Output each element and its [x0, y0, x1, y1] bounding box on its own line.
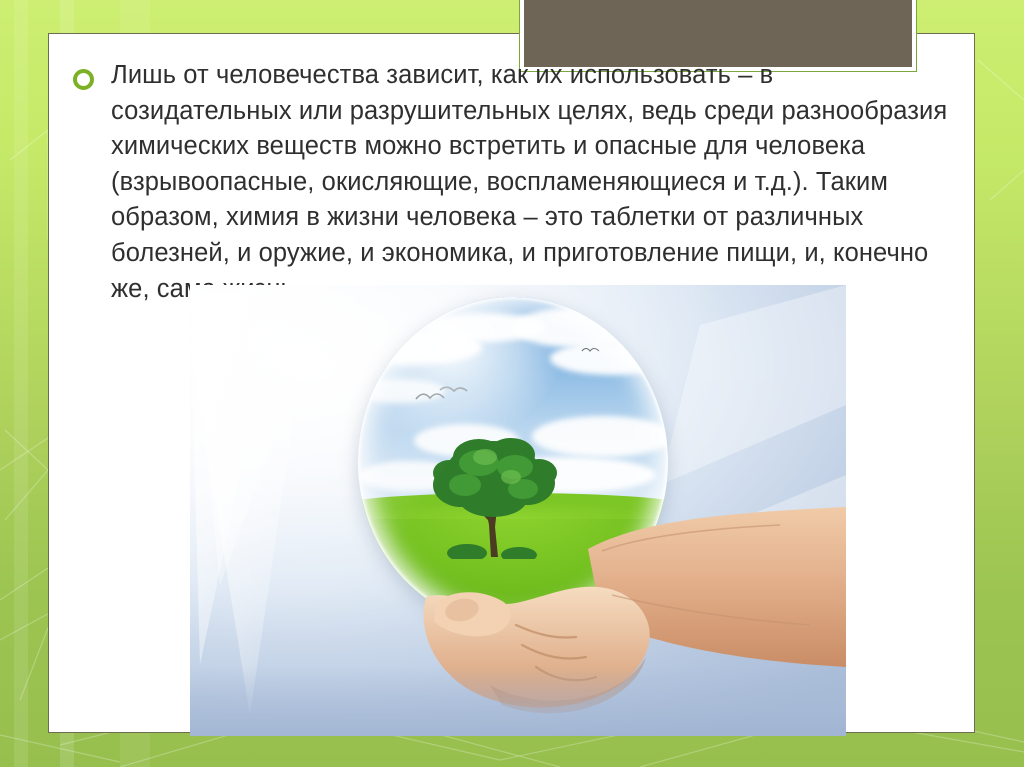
- photo-hand-holding-globe: [190, 285, 846, 736]
- hand-and-forearm: [340, 485, 846, 736]
- slide: Лишь от человечества зависит, как их исп…: [0, 0, 1024, 767]
- top-placeholder-box: [524, 0, 912, 67]
- bullet-paragraph: Лишь от человечества зависит, как их исп…: [73, 58, 953, 307]
- birds-icon: [414, 383, 474, 409]
- bird-small-icon: [581, 343, 603, 355]
- paragraph-text: Лишь от человечества зависит, как их исп…: [111, 58, 953, 307]
- ring-bullet-icon: [73, 69, 94, 90]
